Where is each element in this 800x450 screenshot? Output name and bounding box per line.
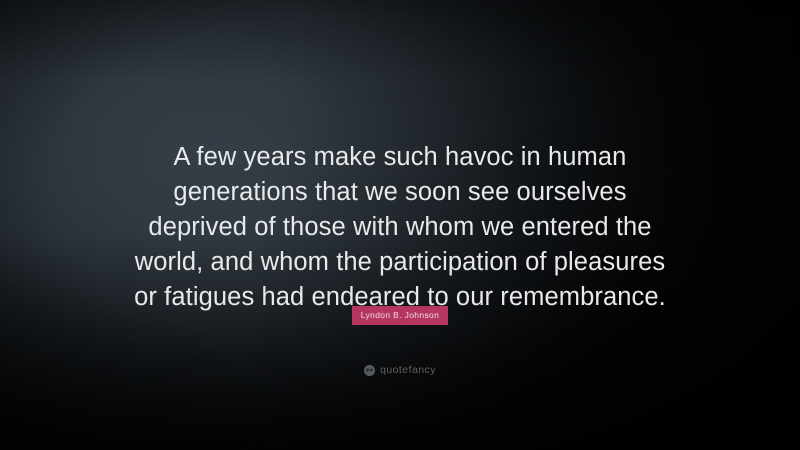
quote-line: deprived of those with whom we entered t…	[110, 210, 690, 245]
quote-line: world, and whom the participation of ple…	[110, 245, 690, 280]
quotefancy-watermark[interactable]: quotefancy	[0, 365, 800, 376]
quotefancy-wordmark: quotefancy	[380, 365, 436, 376]
quote-line: generations that we soon see ourselves	[110, 175, 690, 210]
author-attribution: Lyndon B. Johnson	[0, 305, 800, 325]
quote-image-canvas: A few years make such havoc in human gen…	[0, 0, 800, 450]
quote-text-block: A few years make such havoc in human gen…	[40, 140, 760, 315]
quotefancy-circle-icon	[364, 365, 375, 376]
quote-content: A few years make such havoc in human gen…	[0, 0, 800, 450]
author-name-badge[interactable]: Lyndon B. Johnson	[352, 306, 448, 325]
quote-line: A few years make such havoc in human	[110, 140, 690, 175]
